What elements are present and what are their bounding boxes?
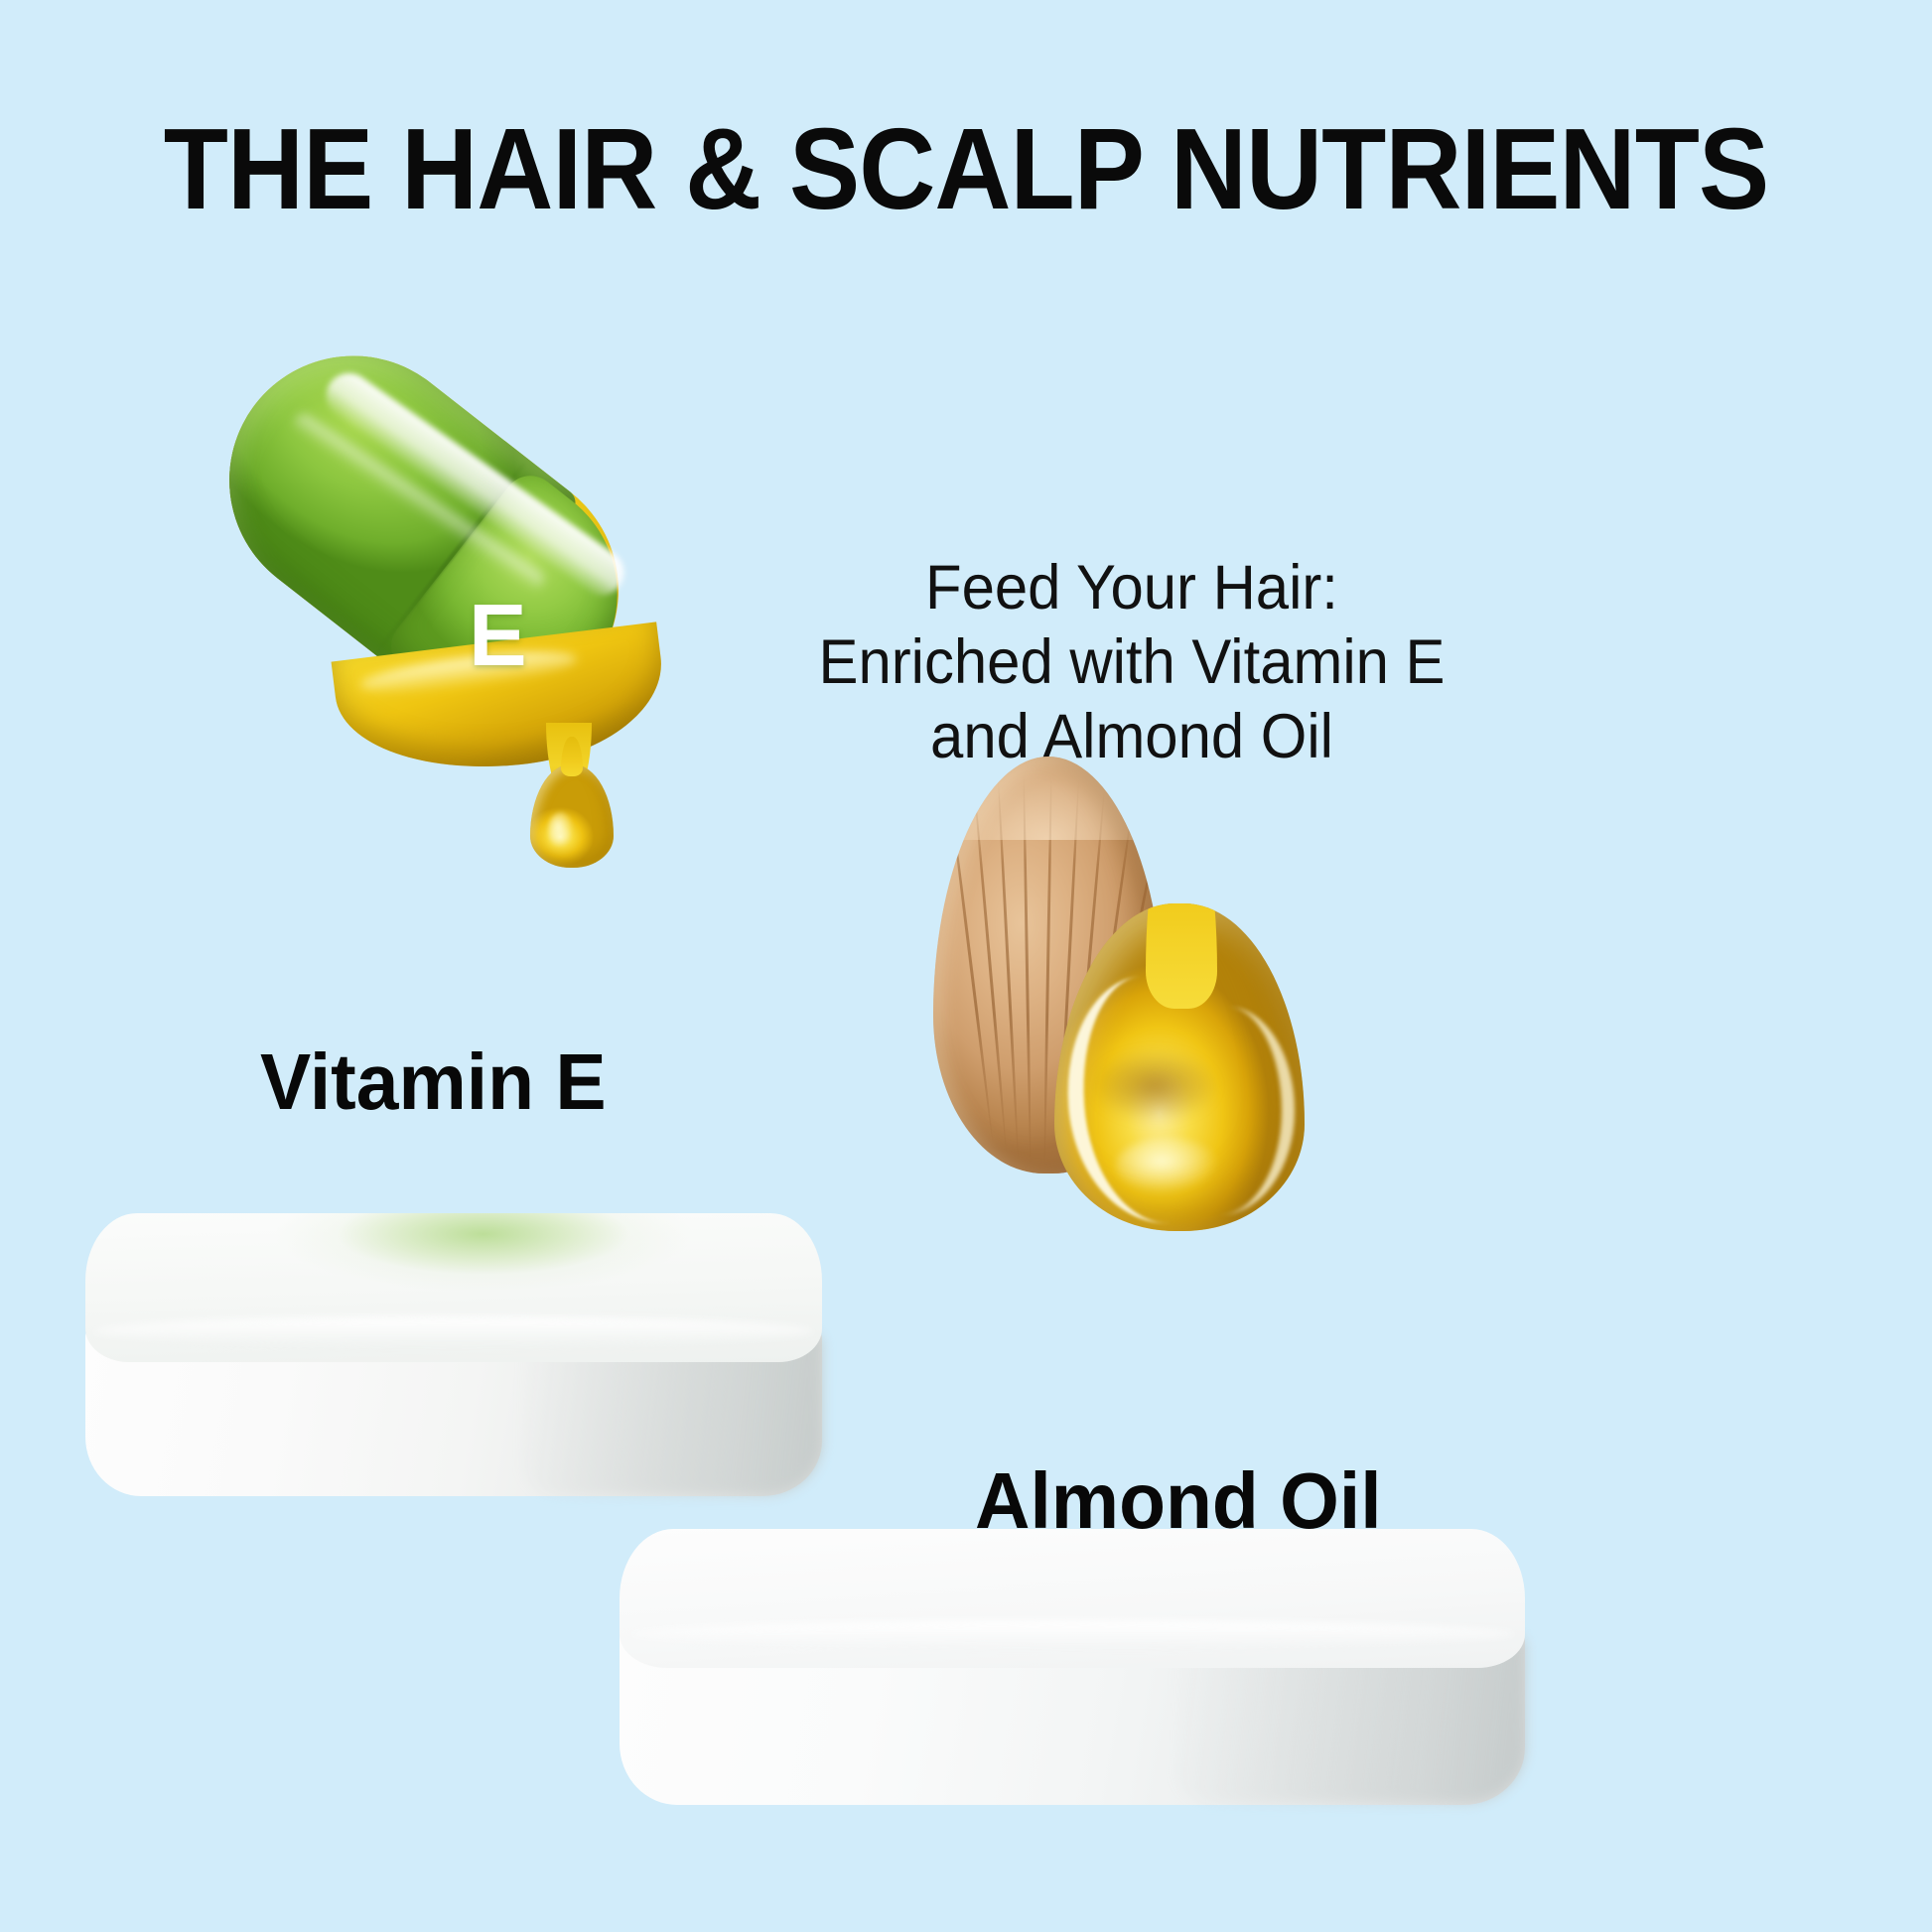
almond-ridge bbox=[949, 798, 994, 1141]
page-title: THE HAIR & SCALP NUTRIENTS bbox=[77, 111, 1855, 226]
subtitle-line-1: Feed Your Hair: bbox=[802, 551, 1462, 625]
podium-almond-oil bbox=[620, 1529, 1525, 1827]
almond-tip-highlight bbox=[933, 757, 1164, 840]
product-ingredients-infographic: THE HAIR & SCALP NUTRIENTS Feed Your Hai… bbox=[0, 0, 1932, 1932]
almond-and-oil-drop-icon bbox=[933, 757, 1311, 1233]
subtitle-line-2: Enriched with Vitamin E bbox=[802, 625, 1462, 700]
oil-droplet-icon bbox=[530, 764, 614, 868]
podium-vitamin-e bbox=[85, 1213, 822, 1511]
podium-top-edge-highlight bbox=[93, 1316, 814, 1346]
subtitle-block: Feed Your Hair: Enriched with Vitamin E … bbox=[802, 551, 1462, 774]
ingredient-label-vitamin-e: Vitamin E bbox=[260, 1042, 607, 1122]
oil-droplet-specular bbox=[1116, 1138, 1219, 1193]
ingredient-label-almond-oil: Almond Oil bbox=[975, 1461, 1382, 1541]
vitamin-e-capsule-icon: E bbox=[197, 375, 663, 852]
podium-top-edge-highlight bbox=[629, 1620, 1515, 1648]
capsule-letter-label: E bbox=[469, 592, 527, 679]
